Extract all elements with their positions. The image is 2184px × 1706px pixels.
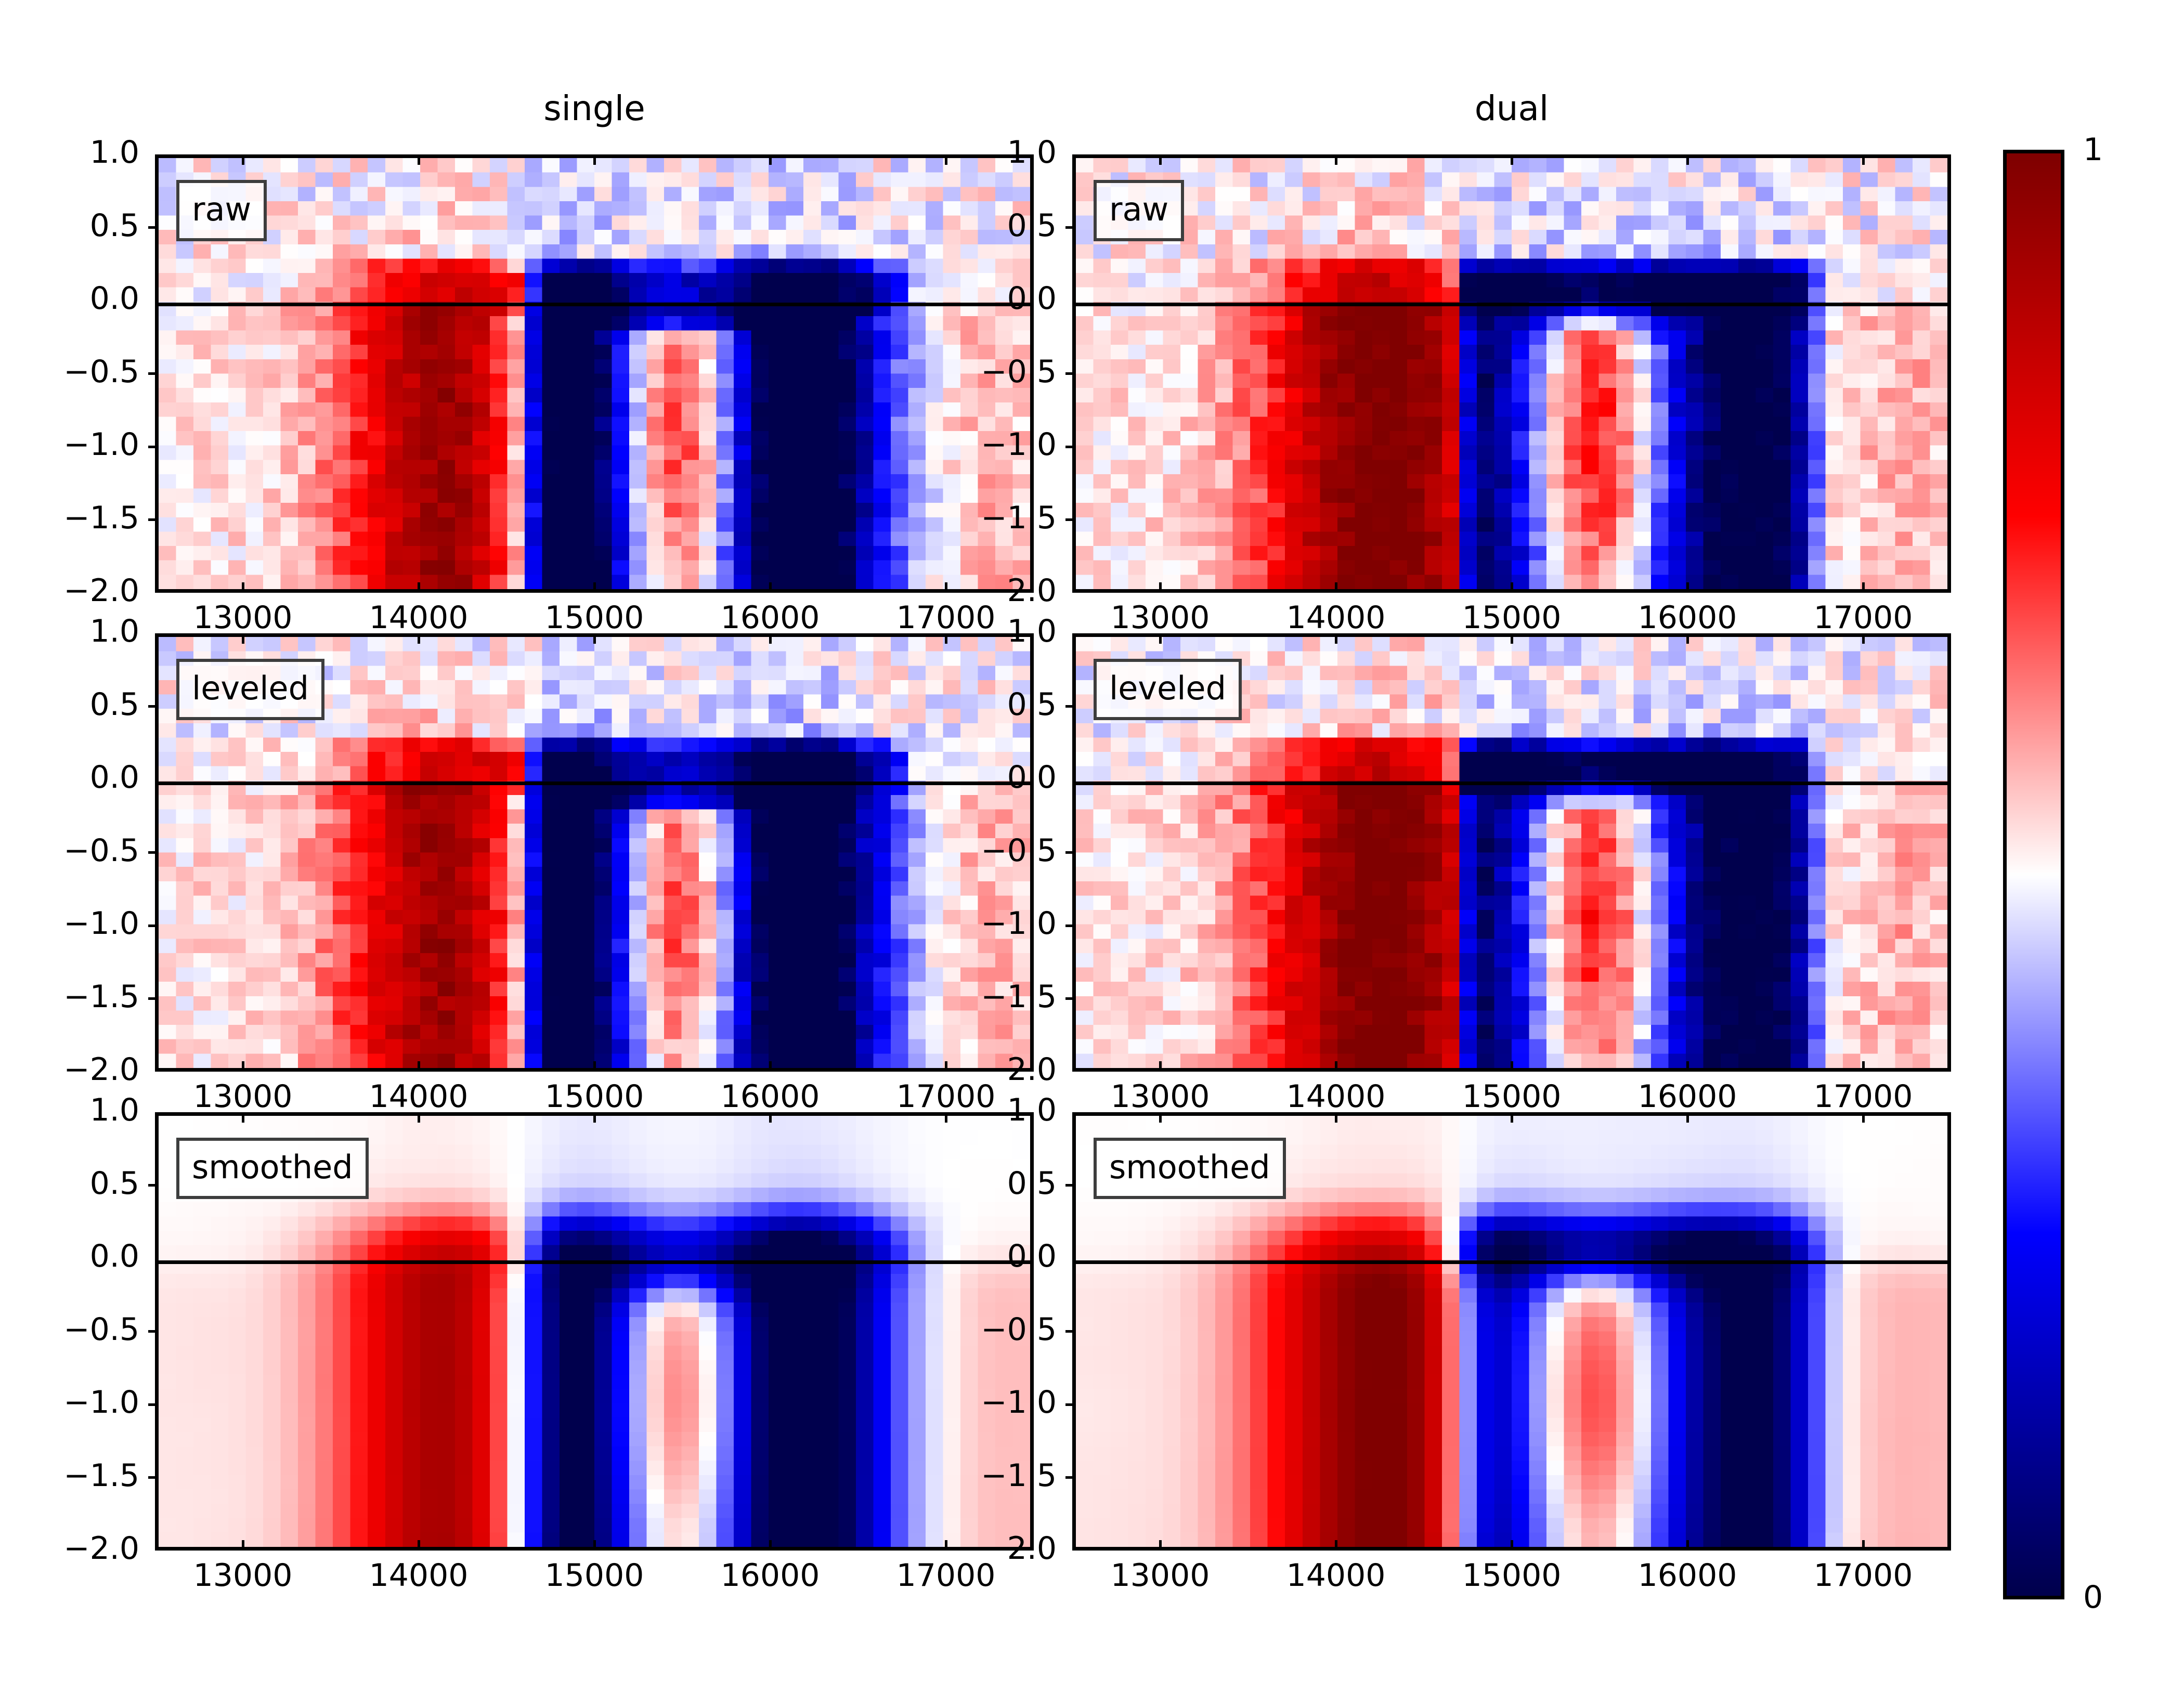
x-tick-mark bbox=[593, 633, 596, 644]
y-tick-label: 1.0 bbox=[0, 616, 139, 647]
x-tick-mark bbox=[242, 1061, 244, 1072]
x-tick-mark bbox=[1862, 582, 1865, 593]
y-tick-label: −0.5 bbox=[885, 835, 1057, 866]
heatmap-image bbox=[1076, 158, 1947, 589]
y-tick-mark bbox=[148, 446, 159, 448]
y-tick-label: −1.0 bbox=[885, 908, 1057, 939]
x-tick-mark bbox=[242, 633, 244, 644]
y-tick-label: 0.5 bbox=[0, 210, 139, 241]
y-tick-label: −0.5 bbox=[885, 1314, 1057, 1345]
plot-panel-leveled-dual: leveled bbox=[1072, 633, 1951, 1072]
x-tick-mark bbox=[1335, 633, 1337, 644]
y-tick-label: −1.5 bbox=[0, 502, 139, 533]
x-tick-mark bbox=[1511, 1112, 1513, 1123]
y-tick-label: 1.0 bbox=[0, 1095, 139, 1126]
y-tick-label: 1.0 bbox=[885, 137, 1057, 168]
y-tick-label: 0.0 bbox=[0, 283, 139, 314]
y-tick-label: 0.0 bbox=[885, 762, 1057, 793]
y-tick-label: −2.0 bbox=[885, 1054, 1057, 1085]
x-tick-mark bbox=[593, 1540, 596, 1551]
x-tick-mark bbox=[769, 582, 772, 593]
y-tick-mark bbox=[148, 997, 159, 1000]
x-tick-mark bbox=[1335, 1112, 1337, 1123]
x-tick-mark bbox=[418, 633, 420, 644]
x-tick-mark bbox=[418, 1112, 420, 1123]
zero-reference-line bbox=[1076, 303, 1947, 306]
y-tick-label: 0.5 bbox=[885, 689, 1057, 720]
y-tick-mark bbox=[1065, 226, 1076, 229]
y-tick-label: −1.5 bbox=[0, 1460, 139, 1491]
x-tick-mark bbox=[1862, 633, 1865, 644]
y-tick-label: 1.0 bbox=[885, 1095, 1057, 1126]
y-tick-label: −2.0 bbox=[0, 575, 139, 606]
x-tick-mark bbox=[418, 1540, 420, 1551]
x-tick-mark bbox=[1159, 582, 1162, 593]
panel-label-raw: raw bbox=[1094, 180, 1184, 241]
x-tick-mark bbox=[1511, 154, 1513, 165]
y-tick-mark bbox=[148, 851, 159, 854]
x-tick-mark bbox=[1686, 1061, 1689, 1072]
y-tick-label: −1.0 bbox=[0, 908, 139, 939]
y-tick-label: 1.0 bbox=[885, 616, 1057, 647]
y-tick-label: 0.5 bbox=[0, 689, 139, 720]
y-tick-mark bbox=[1065, 997, 1076, 1000]
y-tick-label: −2.0 bbox=[0, 1054, 139, 1085]
colorbar-max-label: 1 bbox=[2083, 134, 2103, 165]
x-tick-mark bbox=[1686, 1112, 1689, 1123]
y-tick-mark bbox=[1065, 518, 1076, 521]
y-tick-label: −0.5 bbox=[0, 356, 139, 387]
x-tick-mark bbox=[242, 582, 244, 593]
y-tick-label: 0.5 bbox=[885, 210, 1057, 241]
x-tick-mark bbox=[769, 154, 772, 165]
y-tick-label: 0.5 bbox=[885, 1168, 1057, 1199]
y-tick-label: 1.0 bbox=[0, 137, 139, 168]
x-tick-mark bbox=[1686, 633, 1689, 644]
x-tick-label: 17000 bbox=[1759, 1560, 1967, 1591]
y-tick-label: −0.5 bbox=[0, 1314, 139, 1345]
zero-reference-line bbox=[1076, 782, 1947, 785]
y-tick-label: 0.0 bbox=[0, 762, 139, 793]
x-tick-label: 17000 bbox=[1759, 1081, 1967, 1112]
y-tick-mark bbox=[148, 1184, 159, 1187]
y-tick-label: −1.0 bbox=[885, 429, 1057, 460]
panel-label-leveled: leveled bbox=[1094, 659, 1242, 720]
y-tick-mark bbox=[148, 518, 159, 521]
y-tick-label: 0.0 bbox=[885, 1241, 1057, 1272]
y-tick-label: −2.0 bbox=[0, 1533, 139, 1564]
x-tick-mark bbox=[593, 1061, 596, 1072]
y-tick-mark bbox=[1065, 705, 1076, 708]
y-tick-mark bbox=[148, 1476, 159, 1479]
x-tick-mark bbox=[1335, 154, 1337, 165]
y-tick-mark bbox=[1065, 924, 1076, 927]
y-tick-label: 0.0 bbox=[885, 283, 1057, 314]
y-tick-mark bbox=[148, 372, 159, 375]
y-tick-label: −1.5 bbox=[885, 981, 1057, 1012]
x-tick-mark bbox=[1159, 1112, 1162, 1123]
x-tick-mark bbox=[593, 1112, 596, 1123]
x-tick-mark bbox=[1511, 633, 1513, 644]
y-tick-mark bbox=[1065, 1403, 1076, 1406]
y-tick-label: −1.5 bbox=[885, 1460, 1057, 1491]
x-tick-mark bbox=[1862, 1112, 1865, 1123]
x-tick-mark bbox=[1335, 582, 1337, 593]
x-tick-mark bbox=[1511, 1540, 1513, 1551]
y-tick-mark bbox=[148, 1403, 159, 1406]
y-tick-label: −1.0 bbox=[885, 1387, 1057, 1418]
panel-label-raw: raw bbox=[176, 180, 267, 241]
y-tick-mark bbox=[1065, 1330, 1076, 1333]
x-tick-mark bbox=[1159, 633, 1162, 644]
x-tick-mark bbox=[1862, 1540, 1865, 1551]
plot-panel-raw-dual: raw bbox=[1072, 154, 1951, 593]
y-tick-mark bbox=[1065, 1184, 1076, 1187]
y-tick-label: −1.0 bbox=[0, 1387, 139, 1418]
x-tick-mark bbox=[1335, 1540, 1337, 1551]
x-tick-mark bbox=[769, 1061, 772, 1072]
x-tick-mark bbox=[1862, 154, 1865, 165]
x-tick-mark bbox=[1686, 582, 1689, 593]
x-tick-mark bbox=[1686, 1540, 1689, 1551]
y-tick-mark bbox=[148, 1330, 159, 1333]
y-tick-mark bbox=[1065, 851, 1076, 854]
y-tick-label: −0.5 bbox=[885, 356, 1057, 387]
x-tick-mark bbox=[1862, 1061, 1865, 1072]
plot-panel-smoothed-dual: smoothed bbox=[1072, 1112, 1951, 1551]
x-tick-mark bbox=[769, 1540, 772, 1551]
y-tick-mark bbox=[1065, 1476, 1076, 1479]
colorbar bbox=[2003, 150, 2064, 1599]
x-tick-mark bbox=[418, 1061, 420, 1072]
x-tick-mark bbox=[1159, 1061, 1162, 1072]
y-tick-label: −2.0 bbox=[885, 575, 1057, 606]
y-tick-mark bbox=[148, 924, 159, 927]
x-tick-mark bbox=[1686, 154, 1689, 165]
panel-label-smoothed: smoothed bbox=[1094, 1138, 1286, 1199]
x-tick-label: 17000 bbox=[1759, 602, 1967, 633]
x-tick-mark bbox=[242, 1540, 244, 1551]
x-tick-mark bbox=[1511, 582, 1513, 593]
y-tick-label: 0.5 bbox=[0, 1168, 139, 1199]
panel-label-leveled: leveled bbox=[176, 659, 324, 720]
colorbar-min-label: 0 bbox=[2083, 1582, 2103, 1613]
x-tick-mark bbox=[1511, 1061, 1513, 1072]
x-tick-mark bbox=[242, 1112, 244, 1123]
y-tick-label: 0.0 bbox=[0, 1241, 139, 1272]
x-tick-mark bbox=[1159, 1540, 1162, 1551]
x-tick-mark bbox=[418, 582, 420, 593]
x-tick-mark bbox=[593, 582, 596, 593]
figure-canvas: singledualraw1.00.50.0−0.5−1.0−1.5−2.013… bbox=[0, 0, 2184, 1706]
y-tick-label: −0.5 bbox=[0, 835, 139, 866]
y-tick-label: −1.0 bbox=[0, 429, 139, 460]
x-tick-mark bbox=[769, 1112, 772, 1123]
x-tick-mark bbox=[593, 154, 596, 165]
y-tick-mark bbox=[148, 705, 159, 708]
panel-label-smoothed: smoothed bbox=[176, 1138, 369, 1199]
y-tick-mark bbox=[148, 226, 159, 229]
column-title-dual: dual bbox=[1072, 92, 1951, 126]
x-tick-mark bbox=[418, 154, 420, 165]
x-tick-mark bbox=[1159, 154, 1162, 165]
zero-reference-line bbox=[1076, 1260, 1947, 1264]
x-tick-mark bbox=[1335, 1061, 1337, 1072]
x-tick-mark bbox=[769, 633, 772, 644]
y-tick-mark bbox=[1065, 446, 1076, 448]
y-tick-label: −2.0 bbox=[885, 1533, 1057, 1564]
y-tick-label: −1.5 bbox=[0, 981, 139, 1012]
x-tick-mark bbox=[242, 154, 244, 165]
y-tick-mark bbox=[1065, 372, 1076, 375]
column-title-single: single bbox=[155, 92, 1034, 126]
y-tick-label: −1.5 bbox=[885, 502, 1057, 533]
